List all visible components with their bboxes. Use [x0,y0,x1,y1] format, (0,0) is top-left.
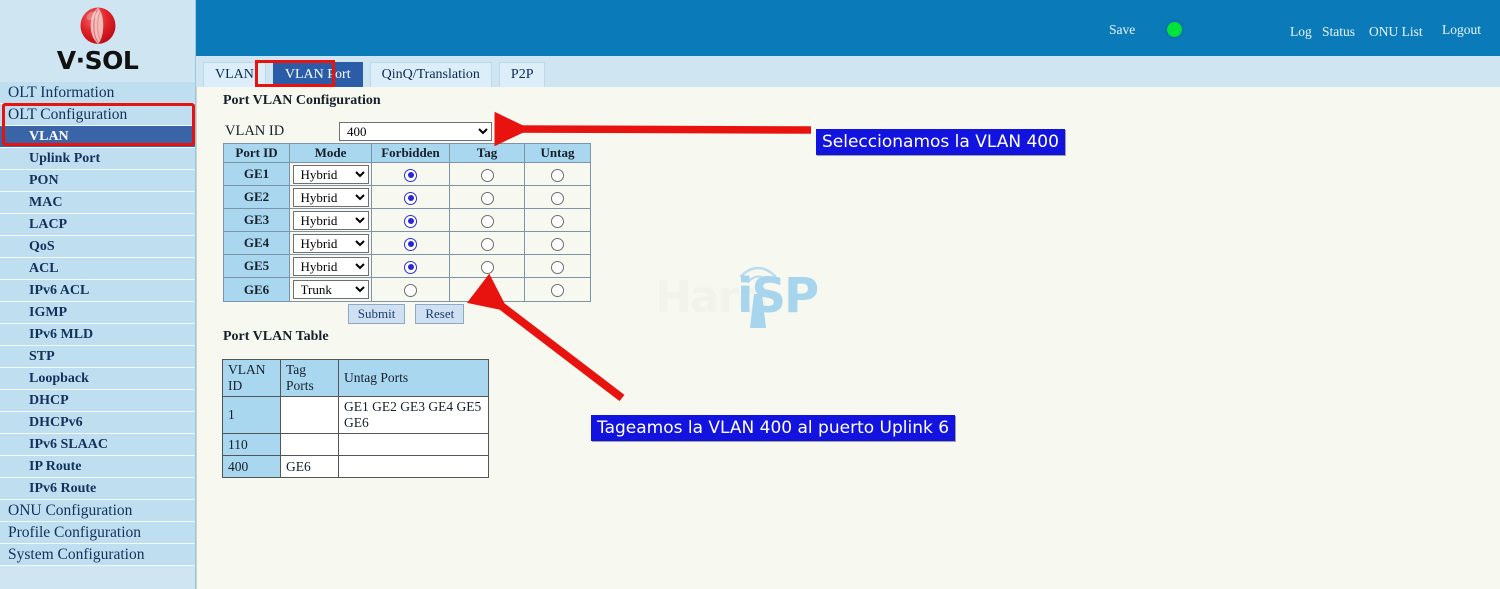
cell-untag [525,186,590,209]
tab-vlan[interactable]: VLAN [203,62,266,87]
tab-p2p[interactable]: P2P [499,62,546,87]
sidebar-item-label: IGMP [29,305,67,320]
sidebar-item-mac[interactable]: MAC [0,192,195,214]
tab-bar: VLANVLAN PortQinQ/TranslationP2P [196,56,1500,87]
sidebar-item-ipv6-acl[interactable]: IPv6 ACL [0,280,195,302]
radio-untag-ge3[interactable] [551,215,564,228]
radio-forbidden-ge6[interactable] [404,284,417,297]
sidebar-item-onu-configuration[interactable]: ONU Configuration [0,500,195,522]
sidebar-item-label: IP Route [29,459,82,474]
radio-tag-ge3[interactable] [481,215,494,228]
cell-forbidden [372,278,450,301]
cell-vlan-id: 400 [223,456,281,478]
sidebar-item-label: QoS [29,239,55,254]
cell-mode: AccessTrunkHybrid [290,278,372,301]
column-header-mode: Mode [290,144,372,163]
mode-select-ge2[interactable]: AccessTrunkHybrid [293,188,369,207]
cell-tag [450,255,525,278]
mode-select-ge3[interactable]: AccessTrunkHybrid [293,211,369,230]
cell-mode: AccessTrunkHybrid [290,255,372,278]
sidebar-item-qos[interactable]: QoS [0,236,195,258]
cell-forbidden [372,255,450,278]
sidebar-item-lacp[interactable]: LACP [0,214,195,236]
table-row: 110 [223,434,489,456]
sidebar-item-label: STP [29,349,55,364]
cell-vlan-id: 110 [223,434,281,456]
column-header-untag: Untag [525,144,590,163]
table-row: 1GE1 GE2 GE3 GE4 GE5 GE6 [223,397,489,434]
cell-mode: AccessTrunkHybrid [290,186,372,209]
radio-forbidden-ge5[interactable] [404,261,417,274]
column-header-tag-ports: Tag Ports [281,360,339,397]
sidebar-item-label: ONU Configuration [8,502,132,519]
sidebar-item-dhcp[interactable]: DHCP [0,390,195,412]
form-button-row: Submit Reset [223,304,589,324]
table-row: GE5AccessTrunkHybrid [224,255,590,278]
sidebar-item-label: DHCPv6 [29,415,83,430]
radio-tag-ge6[interactable] [481,284,494,297]
sidebar-item-igmp[interactable]: IGMP [0,302,195,324]
tab-vlan-port[interactable]: VLAN Port [273,62,363,87]
cell-port-id: GE4 [224,232,290,255]
sidebar-item-label: IPv6 Route [29,481,96,496]
sidebar-item-ipv6-route[interactable]: IPv6 Route [0,478,195,500]
mode-select-ge6[interactable]: AccessTrunkHybrid [293,280,369,299]
column-header-tag: Tag [450,144,525,163]
cell-forbidden [372,186,450,209]
reset-button[interactable]: Reset [415,304,464,324]
header-link-log[interactable]: Log [1290,24,1312,40]
radio-forbidden-ge2[interactable] [404,192,417,205]
cell-untag [525,232,590,255]
port-vlan-configuration-title: Port VLAN Configuration [223,93,381,109]
radio-forbidden-ge3[interactable] [404,215,417,228]
cell-mode: AccessTrunkHybrid [290,163,372,186]
cell-untag [525,255,590,278]
sidebar-item-uplink-port[interactable]: Uplink Port [0,148,195,170]
cell-port-id: GE1 [224,163,290,186]
table-row: 400GE6 [223,456,489,478]
table-header-row: Port ID Mode Forbidden Tag Untag [224,144,590,163]
sidebar-item-label: OLT Configuration [8,106,127,123]
column-header-vlan-id: VLAN ID [223,360,281,397]
cell-forbidden [372,209,450,232]
sidebar-item-ipv6-slaac[interactable]: IPv6 SLAAC [0,434,195,456]
main-content: Port VLAN Configuration VLAN ID 1110400 … [196,87,1500,589]
radio-forbidden-ge4[interactable] [404,238,417,251]
sidebar-item-olt-configuration[interactable]: OLT Configuration [0,104,195,126]
sidebar-item-vlan[interactable]: VLAN [0,126,195,148]
port-vlan-table-title: Port VLAN Table [223,329,329,345]
sidebar-item-loopback[interactable]: Loopback [0,368,195,390]
sidebar-item-label: IPv6 ACL [29,283,89,298]
cell-untag [525,163,590,186]
table-row: GE6AccessTrunkHybrid [224,278,590,301]
sidebar-item-label: Profile Configuration [8,524,141,541]
table-row: GE4AccessTrunkHybrid [224,232,590,255]
sidebar-item-label: VLAN [29,129,69,144]
sidebar-item-acl[interactable]: ACL [0,258,195,280]
cell-tag [450,278,525,301]
table-row: GE2AccessTrunkHybrid [224,186,590,209]
sidebar-item-label: DHCP [29,393,69,408]
cell-port-id: GE5 [224,255,290,278]
header-save-button[interactable]: Save [1109,22,1135,38]
cell-tag [450,163,525,186]
port-vlan-configuration-table: Port ID Mode Forbidden Tag Untag GE1Acce… [223,143,591,302]
cell-port-id: GE2 [224,186,290,209]
radio-untag-ge1[interactable] [551,169,564,182]
radio-untag-ge2[interactable] [551,192,564,205]
header-link-logout[interactable]: Logout [1442,22,1481,38]
sidebar-item-label: IPv6 MLD [29,327,93,342]
column-header-forbidden: Forbidden [372,144,450,163]
mode-select-ge5[interactable]: AccessTrunkHybrid [293,257,369,276]
submit-button[interactable]: Submit [348,304,406,324]
header-link-onu-list[interactable]: ONU List [1369,24,1423,40]
radio-untag-ge6[interactable] [551,284,564,297]
cell-forbidden [372,163,450,186]
cell-tag-ports [281,397,339,434]
sidebar-item-ipv6-mld[interactable]: IPv6 MLD [0,324,195,346]
sidebar-item-olt-information[interactable]: OLT Information [0,82,195,104]
page-root: V·SOL OLT InformationOLT ConfigurationVL… [0,0,1500,589]
cell-vlan-id: 1 [223,397,281,434]
cell-untag [525,278,590,301]
radio-tag-ge2[interactable] [481,192,494,205]
sidebar-item-profile-configuration[interactable]: Profile Configuration [0,522,195,544]
radio-tag-ge1[interactable] [481,169,494,182]
table-header-row: VLAN ID Tag Ports Untag Ports [223,360,489,397]
brand-name: V·SOL [57,48,139,73]
top-header-bar: Save Log Status ONU List Logout [196,0,1500,56]
radio-forbidden-ge1[interactable] [404,169,417,182]
cell-untag-ports: GE1 GE2 GE3 GE4 GE5 GE6 [339,397,489,434]
port-vlan-table: VLAN ID Tag Ports Untag Ports 1GE1 GE2 G… [222,359,489,478]
sidebar-item-ip-route[interactable]: IP Route [0,456,195,478]
radio-untag-ge4[interactable] [551,238,564,251]
radio-tag-ge5[interactable] [481,261,494,274]
cell-mode: AccessTrunkHybrid [290,232,372,255]
sidebar-item-label: OLT Information [8,84,114,101]
tab-qinq-translation[interactable]: QinQ/Translation [370,62,492,87]
sidebar-item-dhcpv6[interactable]: DHCPv6 [0,412,195,434]
table-row: GE3AccessTrunkHybrid [224,209,590,232]
radio-untag-ge5[interactable] [551,261,564,274]
sidebar-item-label: MAC [29,195,62,210]
sidebar-item-system-configuration[interactable]: System Configuration [0,544,195,566]
radio-tag-ge4[interactable] [481,238,494,251]
brand-logo[interactable]: V·SOL [0,0,195,82]
sidebar-item-label: System Configuration [8,546,144,563]
cell-tag [450,232,525,255]
sidebar-item-label: IPv6 SLAAC [29,437,108,452]
sidebar-item-label: Loopback [29,371,89,386]
vlan-id-select[interactable]: 1110400 [339,122,492,141]
cell-forbidden [372,232,450,255]
cell-port-id: GE3 [224,209,290,232]
table-row: GE1AccessTrunkHybrid [224,163,590,186]
column-header-untag-ports: Untag Ports [339,360,489,397]
mode-select-ge4[interactable]: AccessTrunkHybrid [293,234,369,253]
mode-select-ge1[interactable]: AccessTrunkHybrid [293,165,369,184]
cell-tag [450,186,525,209]
cell-untag-ports [339,456,489,478]
status-led-indicator [1167,22,1182,37]
vsol-sphere-logo-icon [77,3,119,47]
callout-tag-vlan-400-uplink6: Tageamos la VLAN 400 al puerto Uplink 6 [591,415,955,441]
cell-tag [450,209,525,232]
sidebar: V·SOL OLT InformationOLT ConfigurationVL… [0,0,196,589]
vlan-id-label: VLAN ID [225,123,284,140]
column-header-port-id: Port ID [224,144,290,163]
cell-untag-ports [339,434,489,456]
header-link-status[interactable]: Status [1322,24,1355,40]
sidebar-item-pon[interactable]: PON [0,170,195,192]
sidebar-item-stp[interactable]: STP [0,346,195,368]
callout-select-vlan-400: Seleccionamos la VLAN 400 [816,129,1065,155]
sidebar-nav: OLT InformationOLT ConfigurationVLANUpli… [0,82,195,566]
sidebar-item-label: ACL [29,261,59,276]
sidebar-item-label: LACP [29,217,67,232]
cell-port-id: GE6 [224,278,290,301]
cell-untag [525,209,590,232]
cell-tag-ports [281,434,339,456]
sidebar-item-label: PON [29,173,59,188]
sidebar-item-label: Uplink Port [29,151,100,166]
cell-mode: AccessTrunkHybrid [290,209,372,232]
cell-tag-ports: GE6 [281,456,339,478]
